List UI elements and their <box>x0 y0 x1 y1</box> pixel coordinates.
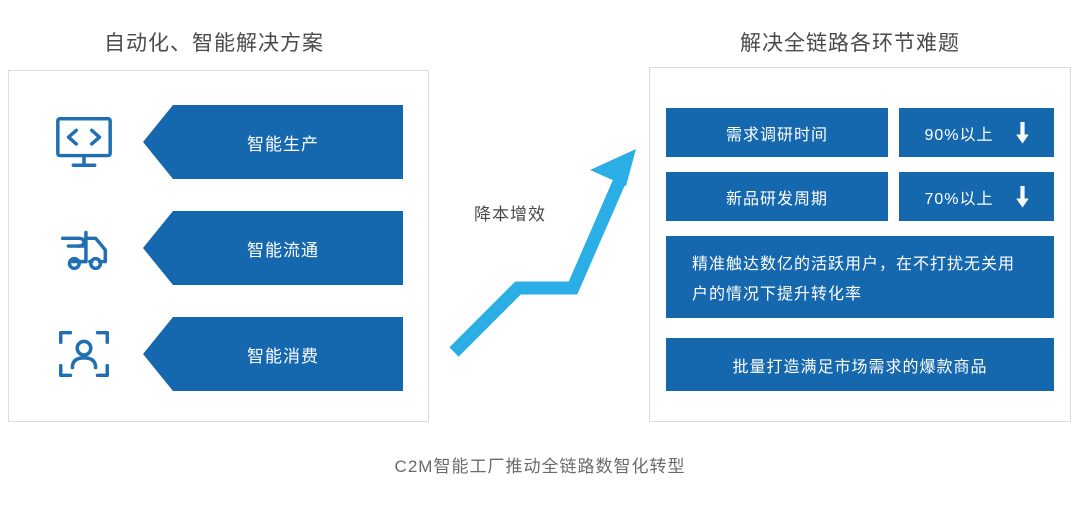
metric-row[interactable]: 需求调研时间 90%以上 <box>666 108 1054 157</box>
monitor-code-icon <box>53 111 115 173</box>
user-scan-icon <box>53 323 115 385</box>
arrow-down-icon <box>1016 186 1029 208</box>
growth-arrow-icon <box>440 140 650 365</box>
metric-value-box[interactable]: 70%以上 <box>899 172 1054 221</box>
metric-value: 70%以上 <box>924 185 993 209</box>
metric-row[interactable]: 新品研发周期 70%以上 <box>666 172 1054 221</box>
solution-row-smart-consumption[interactable]: 智能消费 <box>9 311 428 397</box>
solution-row-smart-logistics[interactable]: 智能流通 <box>9 205 428 291</box>
solutions-panel: 智能生产 智能流通 <box>8 70 429 422</box>
metric-label-box[interactable]: 需求调研时间 <box>666 108 888 157</box>
metric-label: 需求调研时间 <box>726 121 828 145</box>
left-panel-title: 自动化、智能解决方案 <box>104 27 324 57</box>
solution-label: 智能流通 <box>227 236 319 261</box>
center-arrow-group: 降本增效 <box>440 140 650 365</box>
statement-text: 精准触达数亿的活跃用户，在不打扰无关用户的情况下提升转化率 <box>692 256 1015 303</box>
solution-chevron[interactable]: 智能流通 <box>143 211 403 285</box>
solution-row-smart-production[interactable]: 智能生产 <box>9 99 428 185</box>
statement-box[interactable]: 精准触达数亿的活跃用户，在不打扰无关用户的情况下提升转化率 <box>666 236 1054 318</box>
metric-value-box[interactable]: 90%以上 <box>899 108 1054 157</box>
right-panel-title: 解决全链路各环节难题 <box>740 27 960 57</box>
statement-box[interactable]: 批量打造满足市场需求的爆款商品 <box>666 338 1054 391</box>
delivery-truck-icon <box>53 217 115 279</box>
solution-chevron[interactable]: 智能消费 <box>143 317 403 391</box>
metric-label: 新品研发周期 <box>726 185 828 209</box>
arrow-down-icon <box>1016 122 1029 144</box>
solution-label: 智能生产 <box>227 130 319 155</box>
statement-text: 批量打造满足市场需求的爆款商品 <box>732 353 987 377</box>
metric-label-box[interactable]: 新品研发周期 <box>666 172 888 221</box>
footer-caption: C2M智能工厂推动全链路数智化转型 <box>0 452 1080 477</box>
center-arrow-label: 降本增效 <box>474 200 546 225</box>
solution-label: 智能消费 <box>227 342 319 367</box>
metric-value: 90%以上 <box>924 121 993 145</box>
solution-chevron[interactable]: 智能生产 <box>143 105 403 179</box>
problems-panel: 需求调研时间 90%以上 新品研发周期 70%以上 精准触达数亿的活跃用户 <box>649 67 1071 422</box>
